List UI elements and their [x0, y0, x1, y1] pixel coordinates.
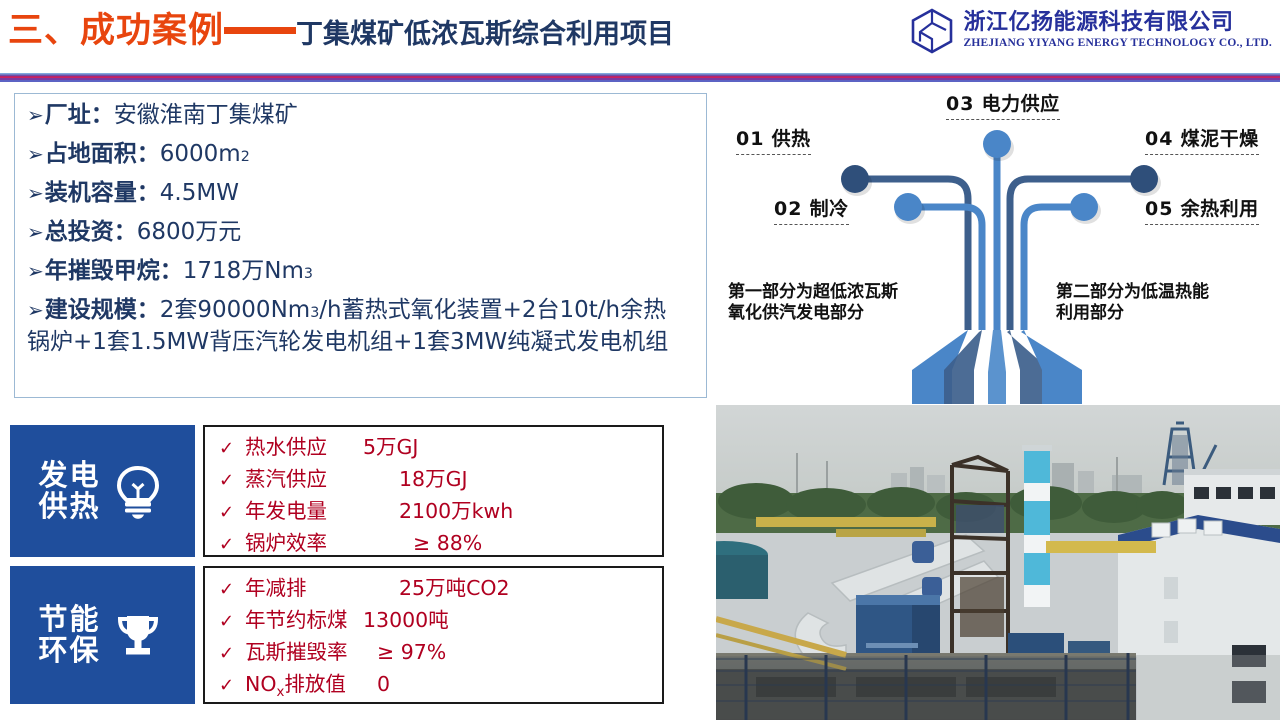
- diagram-label-04-number: 04: [1145, 128, 1173, 150]
- diagram-label-03-number: 03: [946, 93, 974, 115]
- metric-row: ✓ 蒸汽供应 18万GJ: [219, 469, 662, 490]
- check-icon: ✓: [219, 472, 245, 490]
- metric-label: NOx排放值: [245, 674, 363, 695]
- info-value: 4.5MW: [160, 182, 239, 205]
- info-row-site: ➢ 厂址： 安徽淮南丁集煤矿: [27, 104, 694, 127]
- metric-value: 5万GJ: [363, 437, 418, 458]
- company-name-en: ZHEJIANG YIYANG ENERGY TECHNOLOGY CO., L…: [963, 38, 1272, 50]
- energy-tree-diagram: 01 供热 02 制冷 03 电力供应 04 煤泥干燥 05 余热利用 第一部分…: [716, 82, 1280, 405]
- diagram-label-05-text: 余热利用: [1181, 198, 1259, 220]
- metric-label: 热水供应: [245, 437, 363, 458]
- check-icon: ✓: [219, 536, 245, 554]
- page-title: 三、成功案例 丁集煤矿低浓瓦斯综合利用项目: [8, 14, 674, 49]
- diagram-label-04: 04 煤泥干燥: [1145, 124, 1259, 155]
- check-icon: ✓: [219, 504, 245, 522]
- slide-header: 三、成功案例 丁集煤矿低浓瓦斯综合利用项目 浙江亿扬能源科技有限公司 ZHEJI…: [0, 0, 1280, 74]
- tag-label: 节能环保: [38, 604, 100, 667]
- check-icon: ✓: [219, 613, 245, 631]
- info-key: 建设规模：: [45, 299, 160, 322]
- info-key: 总投资：: [45, 221, 137, 244]
- info-value-tail: /h蓄热式氧化装置+2台10t/h余热: [319, 299, 666, 322]
- metric-row: ✓ 年节约标煤 13000吨: [219, 610, 662, 631]
- diagram-label-02: 02 制冷: [774, 194, 849, 225]
- metric-row: ✓ 年减排 25万吨CO2: [219, 578, 662, 599]
- node-02-dot: [894, 193, 922, 221]
- diagram-note-left: 第一部分为超低浓瓦斯 氧化供汽发电部分: [728, 282, 898, 323]
- plant-photo-illustration: [716, 405, 1280, 720]
- tag-label: 发电供热: [38, 460, 100, 523]
- metrics-box-power-and-heat: ✓ 热水供应 5万GJ ✓ 蒸汽供应 18万GJ ✓ 年发电量 2100万kwh…: [203, 425, 664, 557]
- metric-label-post: 排放值: [284, 672, 346, 696]
- tag-line-1: 节能: [38, 602, 100, 636]
- diagram-note-left-line-2: 氧化供汽发电部分: [728, 303, 898, 324]
- diagram-label-05: 05 余热利用: [1145, 194, 1259, 225]
- info-value: 2套90000Nm: [160, 299, 310, 322]
- info-value: 1718万Nm: [183, 260, 304, 283]
- info-key: 厂址：: [45, 104, 114, 127]
- bullet-arrow-icon: ➢: [27, 222, 44, 242]
- diagram-note-left-line-1: 第一部分为超低浓瓦斯: [728, 282, 898, 303]
- diagram-label-03: 03 电力供应: [946, 89, 1060, 120]
- metric-row: ✓ NOx排放值 0: [219, 674, 662, 695]
- diagram-label-03-text: 电力供应: [982, 93, 1060, 115]
- metric-value: ≥ 88%: [413, 533, 482, 554]
- node-03-dot: [983, 130, 1011, 158]
- lightbulb-icon: [109, 462, 167, 520]
- project-info-box: ➢ 厂址： 安徽淮南丁集煤矿 ➢ 占地面积： 6000m2 ➢ 装机容量： 4.…: [14, 93, 707, 398]
- info-row-area: ➢ 占地面积： 6000m2: [27, 143, 694, 166]
- metric-value: 25万吨CO2: [399, 578, 510, 599]
- info-key: 装机容量：: [45, 182, 160, 205]
- diagram-label-01: 01 供热: [736, 124, 811, 155]
- bullet-arrow-icon: ➢: [27, 144, 44, 164]
- diagram-note-right-line-1: 第二部分为低温热能: [1056, 282, 1209, 303]
- title-dash-icon: [224, 27, 296, 34]
- info-value: 安徽淮南丁集煤矿: [114, 104, 298, 127]
- diagram-note-right: 第二部分为低温热能 利用部分: [1056, 282, 1209, 323]
- metric-row: ✓ 热水供应 5万GJ: [219, 437, 662, 458]
- diagram-label-02-text: 制冷: [810, 198, 849, 220]
- tag-energy-saving: 节能环保: [10, 566, 195, 704]
- diagram-label-04-text: 煤泥干燥: [1181, 128, 1259, 150]
- metric-row: ✓ 瓦斯摧毁率 ≥ 97%: [219, 642, 662, 663]
- metric-label: 锅炉效率: [245, 533, 363, 554]
- node-04-dot: [1130, 165, 1158, 193]
- info-value: 6800万元: [137, 221, 242, 244]
- hexagon-logo-icon: [910, 8, 954, 54]
- tag-line-2: 供热: [38, 489, 100, 523]
- diagram-note-right-line-2: 利用部分: [1056, 303, 1209, 324]
- info-value: 6000m: [160, 143, 241, 166]
- node-01-dot: [841, 165, 869, 193]
- bullet-arrow-icon: ➢: [27, 300, 44, 320]
- metric-value: 2100万kwh: [399, 501, 513, 522]
- metric-value: ≥ 97%: [377, 642, 446, 663]
- info-row-capacity: ➢ 装机容量： 4.5MW: [27, 182, 694, 205]
- check-icon: ✓: [219, 440, 245, 458]
- metric-row: ✓ 年发电量 2100万kwh: [219, 501, 662, 522]
- tag-line-2: 环保: [38, 633, 100, 667]
- metric-value: 0: [377, 674, 390, 695]
- title-project-name: 丁集煤矿低浓瓦斯综合利用项目: [296, 21, 674, 48]
- info-row-scale-continuation: 锅炉+1套1.5MW背压汽轮发电机组+1套3MW纯凝式发电机组: [27, 331, 694, 354]
- diagram-label-01-number: 01: [736, 128, 764, 150]
- tag-line-1: 发电: [38, 458, 100, 492]
- project-site-photo: [716, 405, 1280, 720]
- bullet-arrow-icon: ➢: [27, 183, 44, 203]
- header-divider-bar: [0, 73, 1280, 82]
- diagram-label-01-text: 供热: [772, 128, 811, 150]
- check-icon: ✓: [219, 677, 245, 695]
- company-logo: 浙江亿扬能源科技有限公司 ZHEJIANG YIYANG ENERGY TECH…: [910, 8, 1272, 54]
- title-section-number: 三、成功案例: [8, 14, 224, 49]
- bullet-arrow-icon: ➢: [27, 105, 44, 125]
- info-row-investment: ➢ 总投资： 6800万元: [27, 221, 694, 244]
- info-row-scale: ➢ 建设规模： 2套90000Nm3/h蓄热式氧化装置+2台10t/h余热: [27, 299, 694, 322]
- node-05-dot: [1070, 193, 1098, 221]
- info-row-methane: ➢ 年摧毁甲烷： 1718万Nm3: [27, 260, 694, 283]
- metric-label: 蒸汽供应: [245, 469, 363, 490]
- company-name-cn: 浙江亿扬能源科技有限公司: [963, 12, 1272, 34]
- metric-value: 13000吨: [363, 610, 449, 631]
- check-icon: ✓: [219, 645, 245, 663]
- tag-power-and-heat: 发电供热: [10, 425, 195, 557]
- info-key: 占地面积：: [45, 143, 160, 166]
- metric-row: ✓ 锅炉效率 ≥ 88%: [219, 533, 662, 554]
- diagram-label-02-number: 02: [774, 198, 802, 220]
- metric-label: 年减排: [245, 578, 363, 599]
- check-icon: ✓: [219, 581, 245, 599]
- trophy-icon: [109, 606, 167, 664]
- metric-label-pre: NO: [245, 672, 276, 696]
- metric-label: 年节约标煤: [245, 610, 363, 631]
- bullet-arrow-icon: ➢: [27, 261, 44, 281]
- info-key: 年摧毁甲烷：: [45, 260, 183, 283]
- slide-root: 三、成功案例 丁集煤矿低浓瓦斯综合利用项目 浙江亿扬能源科技有限公司 ZHEJI…: [0, 0, 1280, 720]
- diagram-label-05-number: 05: [1145, 198, 1173, 220]
- metric-label: 年发电量: [245, 501, 363, 522]
- metric-value: 18万GJ: [399, 469, 468, 490]
- metric-label: 瓦斯摧毁率: [245, 642, 363, 663]
- metrics-box-energy-saving: ✓ 年减排 25万吨CO2 ✓ 年节约标煤 13000吨 ✓ 瓦斯摧毁率 ≥ 9…: [203, 566, 664, 704]
